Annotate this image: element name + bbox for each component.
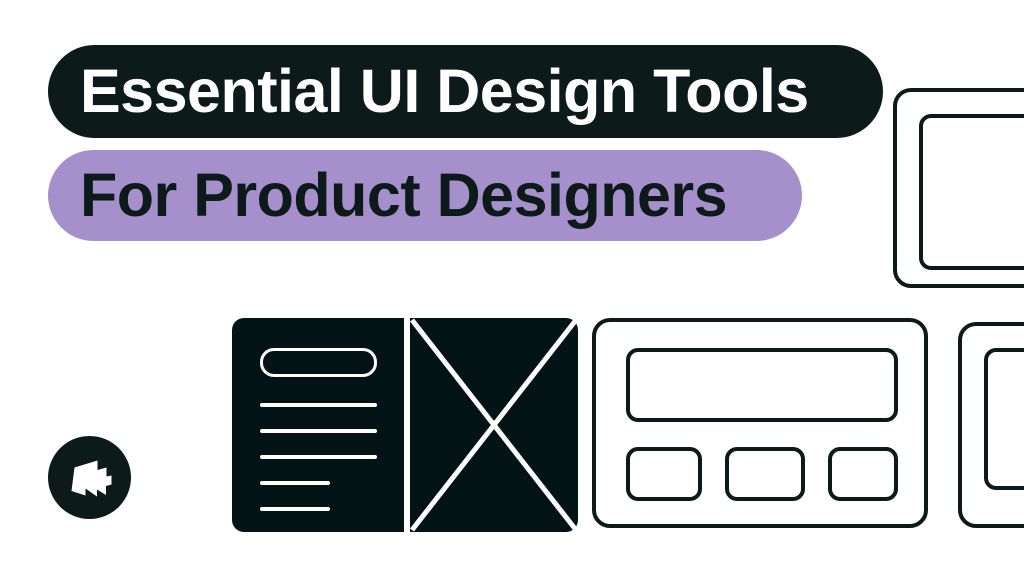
slide-canvas: Essential UI Design Tools For Product De… — [0, 0, 1024, 576]
image-placeholder-wireframe — [410, 318, 578, 532]
page-title-line-1: Essential UI Design Tools — [80, 61, 809, 122]
search-field-outline — [260, 348, 377, 377]
nested-frame-wireframe-top-right — [893, 88, 1024, 288]
nested-frame-inner-top-right — [919, 114, 1024, 270]
card-button-2[interactable] — [725, 447, 805, 501]
sidebar-wireframe — [232, 318, 404, 532]
text-line-2 — [260, 429, 377, 433]
lightning-flag-icon — [64, 455, 116, 501]
title-pill-secondary: For Product Designers — [48, 150, 802, 241]
page-title-line-2: For Product Designers — [80, 165, 727, 226]
nested-frame-inner-bottom-right — [984, 348, 1024, 490]
text-line-3 — [260, 455, 377, 459]
text-line-5 — [260, 507, 330, 511]
nested-frame-wireframe-bottom-right — [958, 322, 1024, 528]
text-line-4 — [260, 481, 330, 485]
hero-banner-outline — [626, 348, 898, 422]
card-button-1[interactable] — [626, 447, 702, 501]
card-button-3[interactable] — [828, 447, 898, 501]
text-line-1 — [260, 403, 377, 407]
title-pill-primary: Essential UI Design Tools — [48, 45, 883, 138]
brand-logo-badge — [48, 436, 131, 519]
dashboard-wireframe — [592, 318, 928, 528]
